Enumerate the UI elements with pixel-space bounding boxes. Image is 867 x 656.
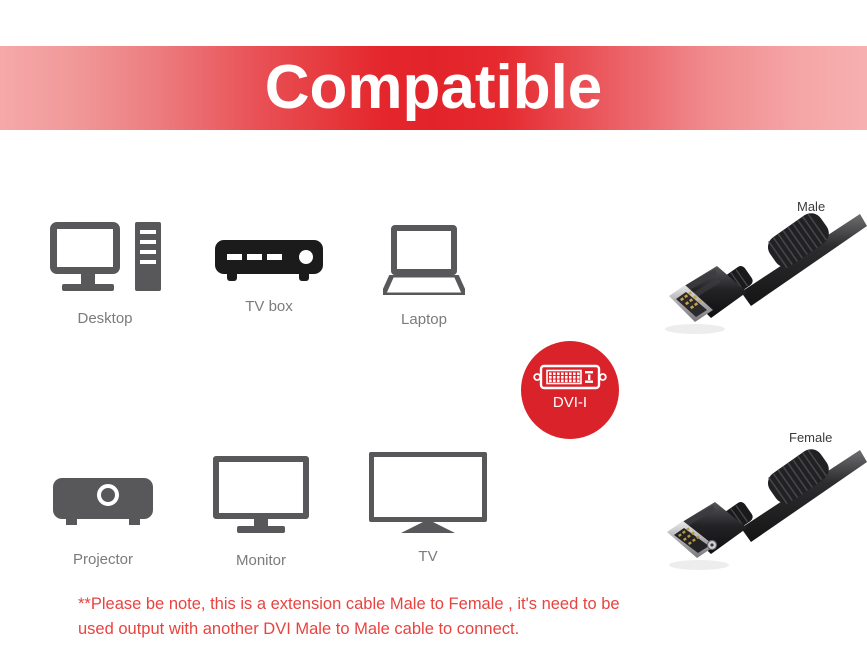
- footer-note-line-2: used output with another DVI Male to Mal…: [78, 617, 778, 642]
- dvi-badge: DVI-I: [521, 341, 619, 439]
- device-item-laptop: Laptop: [383, 225, 465, 328]
- device-label-projector: Projector: [53, 551, 153, 568]
- dvi-male-connector-photo: [655, 196, 867, 341]
- desktop-computer-icon: [50, 222, 161, 292]
- device-item-tv-box: TV box: [214, 240, 324, 315]
- monitor-icon: [213, 456, 309, 533]
- device-label-laptop: Laptop: [383, 311, 465, 328]
- dvi-badge-label: DVI-I: [521, 394, 619, 411]
- device-item-tv: TV: [369, 452, 487, 565]
- device-label-tv-box: TV box: [214, 298, 324, 315]
- device-item-monitor: Monitor: [213, 456, 309, 569]
- device-item-projector: Projector: [53, 478, 153, 568]
- dvi-female-connector-photo: [655, 428, 867, 578]
- header-banner: Compatible: [0, 46, 867, 130]
- device-label-monitor: Monitor: [213, 552, 309, 569]
- cable-caption-male: Male: [797, 199, 825, 214]
- footer-note-line-1: **Please be note, this is a extension ca…: [78, 592, 778, 617]
- device-label-desktop: Desktop: [40, 310, 170, 327]
- device-item-desktop: Desktop: [40, 222, 170, 327]
- laptop-base-shape: [383, 275, 465, 295]
- television-icon: [369, 452, 487, 532]
- footer-note: **Please be note, this is a extension ca…: [78, 592, 778, 642]
- page-title: Compatible: [0, 57, 867, 119]
- tv-stand-shape: [401, 522, 455, 533]
- dvi-connector-icon: [533, 364, 607, 395]
- tv-box-icon: [215, 240, 323, 282]
- cable-caption-female: Female: [789, 430, 832, 445]
- device-label-tv: TV: [369, 548, 487, 565]
- laptop-icon: [383, 225, 465, 295]
- projector-icon: [53, 478, 153, 525]
